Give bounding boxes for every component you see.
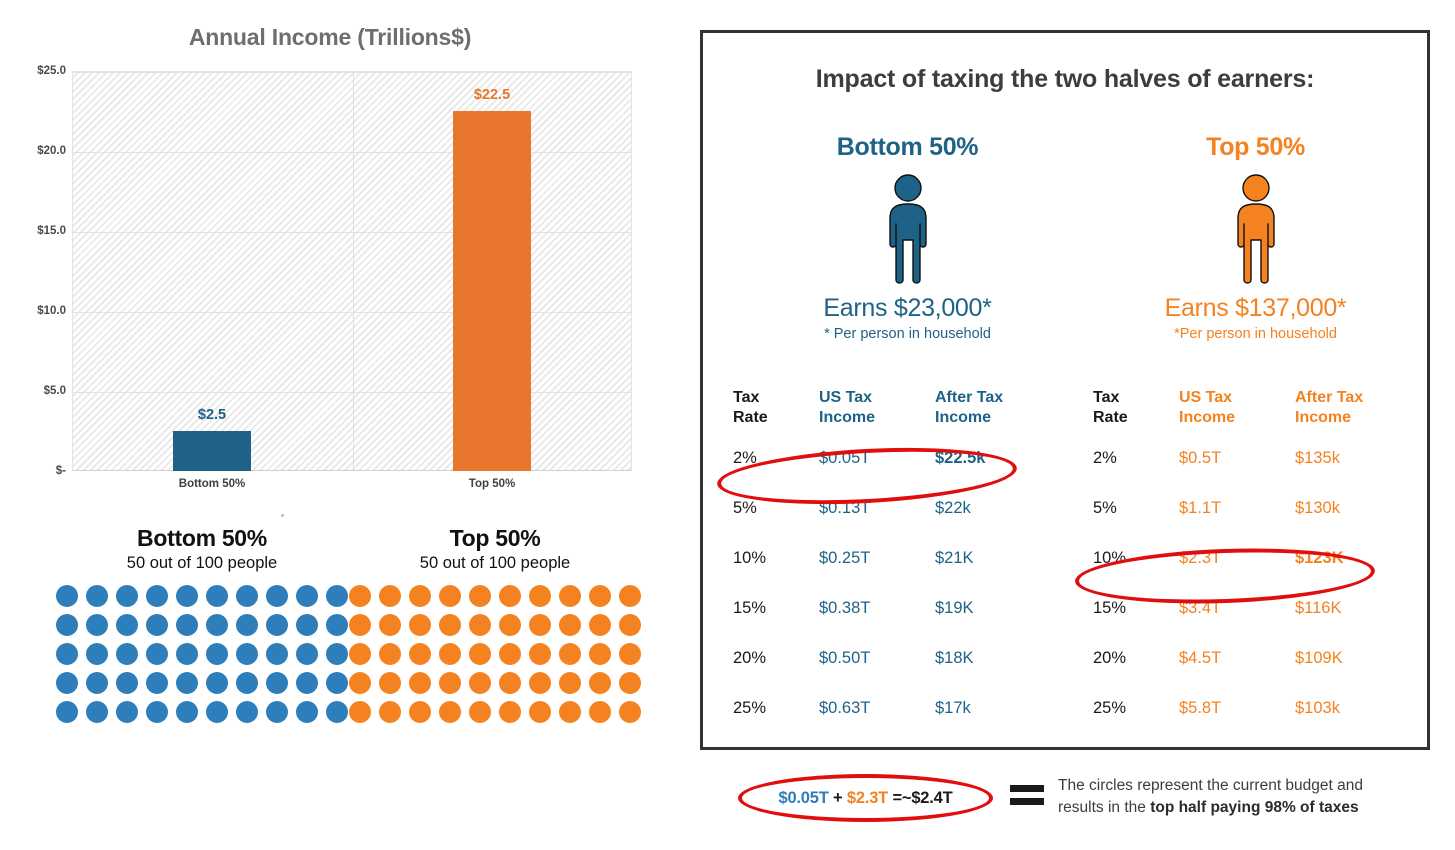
column-header-line: Tax — [1093, 388, 1179, 408]
person-dot — [529, 585, 551, 607]
cell-after-tax-income: $17k — [935, 683, 1053, 733]
impact-panel: Impact of taxing the two halves of earne… — [700, 30, 1430, 750]
person-dot — [559, 585, 581, 607]
person-dot — [266, 585, 288, 607]
person-dot — [619, 643, 641, 665]
cell-after-tax-income: $21K — [935, 533, 1053, 583]
table-row: 20%$4.5T$109K — [1093, 633, 1413, 683]
person-dot — [619, 614, 641, 636]
earns-footnote-bottom: * Per person in household — [725, 326, 1090, 342]
person-dot — [266, 643, 288, 665]
equation-operator: + — [833, 789, 842, 808]
column-header-tax-rate: TaxRate — [733, 388, 819, 433]
person-dot — [116, 614, 138, 636]
person-dot — [206, 614, 228, 636]
table-row: 25%$0.63T$17k — [733, 683, 1053, 733]
person-dot — [56, 585, 78, 607]
person-dot — [236, 585, 258, 607]
person-dot — [349, 672, 371, 694]
cell-after-tax-income: $109K — [1295, 633, 1413, 683]
column-header-line: Rate — [1093, 408, 1179, 428]
person-dot — [379, 672, 401, 694]
person-dot — [266, 672, 288, 694]
people-group-top: Top 50% 50 out of 100 people — [345, 525, 645, 723]
person-dot — [409, 614, 431, 636]
table-header-row: TaxRateUS TaxIncomeAfter TaxIncome — [1093, 388, 1413, 433]
earns-amount-top: Earns $137,000* — [1073, 294, 1438, 323]
dot-grid-bottom — [52, 585, 352, 723]
cell-us-tax-income: $0.38T — [819, 583, 935, 633]
person-dot — [266, 701, 288, 723]
person-icon — [1225, 174, 1287, 286]
dot-grid-top — [345, 585, 645, 723]
cell-after-tax-income: $130k — [1295, 483, 1413, 533]
cell-after-tax-income: $18K — [935, 633, 1053, 683]
cell-us-tax-income: $0.13T — [819, 483, 935, 533]
person-dot — [589, 585, 611, 607]
person-dot — [296, 672, 318, 694]
column-header-after-tax-income: After TaxIncome — [1295, 388, 1413, 433]
table-row: 10%$2.3T$123K — [1093, 533, 1413, 583]
person-dot — [499, 614, 521, 636]
cell-after-tax-income: $103k — [1295, 683, 1413, 733]
table-header-row: TaxRateUS TaxIncomeAfter TaxIncome — [733, 388, 1053, 433]
person-icon-wrap-bottom — [725, 174, 1090, 286]
person-dot — [116, 672, 138, 694]
column-header-us-tax-income: US TaxIncome — [1179, 388, 1295, 433]
person-dot — [379, 701, 401, 723]
person-dot — [349, 643, 371, 665]
person-dot — [176, 585, 198, 607]
table-row: 25%$5.8T$103k — [1093, 683, 1413, 733]
footer-note-line2: results in the top half paying 98% of ta… — [1058, 797, 1455, 819]
person-dot — [559, 614, 581, 636]
person-dot — [469, 672, 491, 694]
person-dot — [559, 672, 581, 694]
column-header-line: After Tax — [1295, 388, 1413, 408]
chart-x-category-label: Bottom 50% — [112, 478, 312, 490]
footer-note-prefix: results in the — [1058, 799, 1150, 816]
person-icon-wrap-top — [1073, 174, 1438, 286]
person-dot — [529, 614, 551, 636]
person-dot — [469, 614, 491, 636]
person-icon — [877, 174, 939, 286]
person-dot — [236, 614, 258, 636]
cell-tax-rate: 5% — [733, 483, 819, 533]
cell-us-tax-income: $0.05T — [819, 433, 935, 483]
cell-tax-rate: 10% — [1093, 533, 1179, 583]
person-dot — [116, 585, 138, 607]
person-dot — [236, 643, 258, 665]
person-dot — [589, 643, 611, 665]
person-dot — [206, 585, 228, 607]
person-dot — [529, 672, 551, 694]
equation-term1: $0.05T — [778, 789, 828, 808]
person-dot — [266, 614, 288, 636]
person-dot — [499, 701, 521, 723]
table-row: 15%$3.4T$116K — [1093, 583, 1413, 633]
footer-note: The circles represent the current budget… — [1058, 775, 1455, 820]
person-dot — [349, 701, 371, 723]
person-dot — [116, 701, 138, 723]
person-dot — [589, 672, 611, 694]
cell-after-tax-income: $22k — [935, 483, 1053, 533]
impact-column-top: Top 50% Earns $137,000* *Per person in h… — [1073, 133, 1438, 342]
cell-tax-rate: 25% — [1093, 683, 1179, 733]
person-dot — [619, 585, 641, 607]
cell-us-tax-income: $0.25T — [819, 533, 935, 583]
people-group-bottom: Bottom 50% 50 out of 100 people — [52, 525, 352, 723]
column-header-after-tax-income: After TaxIncome — [935, 388, 1053, 433]
person-dot — [439, 614, 461, 636]
table-row: 5%$1.1T$130k — [1093, 483, 1413, 533]
person-dot — [589, 614, 611, 636]
equation-equals: = — [892, 789, 901, 808]
person-dot — [409, 701, 431, 723]
column-header-line: Income — [935, 408, 1053, 428]
person-dot — [86, 672, 108, 694]
impact-column-bottom: Bottom 50% Earns $23,000* * Per person i… — [725, 133, 1090, 342]
person-dot — [206, 672, 228, 694]
person-dot — [176, 614, 198, 636]
person-dot — [296, 585, 318, 607]
cell-us-tax-income: $0.63T — [819, 683, 935, 733]
people-group-bottom-subtitle: 50 out of 100 people — [52, 554, 352, 573]
cell-tax-rate: 2% — [733, 433, 819, 483]
equals-icon — [1010, 785, 1044, 811]
cell-us-tax-income: $2.3T — [1179, 533, 1295, 583]
person-dot — [86, 643, 108, 665]
table-row: 10%$0.25T$21K — [733, 533, 1053, 583]
equation-result: ~$2.4T — [902, 789, 953, 808]
person-dot — [236, 672, 258, 694]
cell-us-tax-income: $0.50T — [819, 633, 935, 683]
person-dot — [236, 701, 258, 723]
person-dot — [56, 701, 78, 723]
cell-us-tax-income: $0.5T — [1179, 433, 1295, 483]
person-dot — [56, 614, 78, 636]
person-dot — [439, 643, 461, 665]
person-dot — [439, 701, 461, 723]
person-dot — [86, 701, 108, 723]
person-dot — [499, 672, 521, 694]
equation-term2: $2.3T — [847, 789, 888, 808]
column-header-line: Rate — [733, 408, 819, 428]
table-row: 5%$0.13T$22k — [733, 483, 1053, 533]
table-row: 20%$0.50T$18K — [733, 633, 1053, 683]
footer-note-emphasis: top half paying 98% of taxes — [1150, 799, 1358, 816]
person-dot — [146, 643, 168, 665]
impact-heading-top: Top 50% — [1073, 133, 1438, 162]
cell-tax-rate: 15% — [1093, 583, 1179, 633]
person-dot — [146, 672, 168, 694]
people-group-bottom-title: Bottom 50% — [52, 525, 352, 552]
person-dot — [379, 585, 401, 607]
cell-tax-rate: 25% — [733, 683, 819, 733]
person-dot — [296, 701, 318, 723]
people-group-top-subtitle: 50 out of 100 people — [345, 554, 645, 573]
person-dot — [56, 643, 78, 665]
person-dot — [379, 643, 401, 665]
person-dot — [439, 672, 461, 694]
person-dot — [589, 701, 611, 723]
person-dot — [469, 701, 491, 723]
people-group-top-title: Top 50% — [345, 525, 645, 552]
cell-after-tax-income: $19K — [935, 583, 1053, 633]
person-dot — [529, 643, 551, 665]
person-dot — [469, 585, 491, 607]
cell-tax-rate: 2% — [1093, 433, 1179, 483]
budget-equation: $0.05T + $2.3T = ~$2.4T — [738, 774, 993, 822]
chart-x-axis: Bottom 50%Top 50% — [0, 0, 680, 510]
cell-tax-rate: 5% — [1093, 483, 1179, 533]
person-dot — [529, 701, 551, 723]
chart-x-category-label: Top 50% — [392, 478, 592, 490]
tax-table-bottom: TaxRateUS TaxIncomeAfter TaxIncome2%$0.0… — [733, 388, 1053, 733]
person-dot — [349, 585, 371, 607]
person-dot — [86, 585, 108, 607]
column-header-line: Tax — [733, 388, 819, 408]
person-dot — [146, 701, 168, 723]
person-dot — [619, 672, 641, 694]
person-dot — [439, 585, 461, 607]
cell-after-tax-income: $135k — [1295, 433, 1413, 483]
person-dot — [146, 585, 168, 607]
column-header-line: Income — [1179, 408, 1295, 428]
cell-us-tax-income: $5.8T — [1179, 683, 1295, 733]
person-dot — [206, 643, 228, 665]
cell-us-tax-income: $1.1T — [1179, 483, 1295, 533]
column-header-line: Income — [819, 408, 935, 428]
person-dot — [206, 701, 228, 723]
person-dot — [559, 701, 581, 723]
column-header-line: US Tax — [1179, 388, 1295, 408]
impact-panel-title: Impact of taxing the two halves of earne… — [703, 65, 1427, 94]
table-row: 2%$0.5T$135k — [1093, 433, 1413, 483]
person-dot — [499, 585, 521, 607]
column-header-line: After Tax — [935, 388, 1053, 408]
person-dot — [409, 585, 431, 607]
person-dot — [116, 643, 138, 665]
person-dot — [409, 672, 431, 694]
table-row: 2%$0.05T$22.5k — [733, 433, 1053, 483]
cell-us-tax-income: $4.5T — [1179, 633, 1295, 683]
person-dot — [349, 614, 371, 636]
person-dot — [296, 614, 318, 636]
column-header-tax-rate: TaxRate — [1093, 388, 1179, 433]
infographic-root: Annual Income (Trillions$) $25.0$20.0$15… — [0, 0, 1455, 850]
table-row: 15%$0.38T$19K — [733, 583, 1053, 633]
cell-after-tax-income: $123K — [1295, 533, 1413, 583]
cell-tax-rate: 10% — [733, 533, 819, 583]
column-header-us-tax-income: US TaxIncome — [819, 388, 935, 433]
earns-footnote-top: *Per person in household — [1073, 326, 1438, 342]
person-dot — [176, 643, 198, 665]
cell-after-tax-income: $22.5k — [935, 433, 1053, 483]
person-dot — [86, 614, 108, 636]
impact-heading-bottom: Bottom 50% — [725, 133, 1090, 162]
person-dot — [469, 643, 491, 665]
earns-amount-bottom: Earns $23,000* — [725, 294, 1090, 323]
person-dot — [499, 643, 521, 665]
stray-dot-artifact — [281, 514, 284, 517]
cell-after-tax-income: $116K — [1295, 583, 1413, 633]
tax-table-top: TaxRateUS TaxIncomeAfter TaxIncome2%$0.5… — [1093, 388, 1413, 733]
person-dot — [379, 614, 401, 636]
cell-tax-rate: 20% — [1093, 633, 1179, 683]
person-dot — [619, 701, 641, 723]
annual-income-chart: Annual Income (Trillions$) $25.0$20.0$15… — [0, 0, 680, 510]
person-dot — [176, 672, 198, 694]
footer-note-line1: The circles represent the current budget… — [1058, 775, 1455, 797]
people-dot-grids: Bottom 50% 50 out of 100 people Top 50% … — [0, 525, 680, 755]
person-dot — [559, 643, 581, 665]
person-dot — [409, 643, 431, 665]
cell-tax-rate: 15% — [733, 583, 819, 633]
person-dot — [146, 614, 168, 636]
column-header-line: Income — [1295, 408, 1413, 428]
person-dot — [296, 643, 318, 665]
column-header-line: US Tax — [819, 388, 935, 408]
cell-tax-rate: 20% — [733, 633, 819, 683]
footer-summary: $0.05T + $2.3T = ~$2.4T The circles repr… — [700, 770, 1455, 840]
cell-us-tax-income: $3.4T — [1179, 583, 1295, 633]
person-dot — [176, 701, 198, 723]
person-dot — [56, 672, 78, 694]
